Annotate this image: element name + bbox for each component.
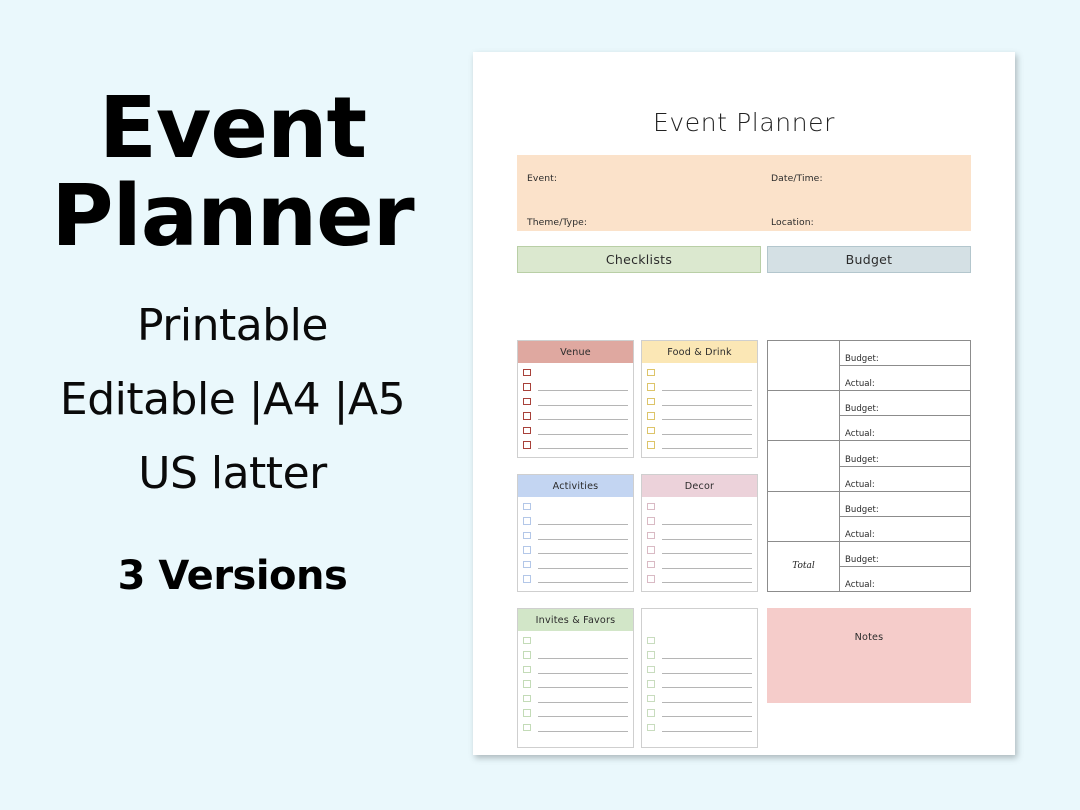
checkbox-icon[interactable] [523, 680, 531, 688]
checkbox-icon[interactable] [647, 724, 655, 732]
checklist-item-row[interactable] [647, 409, 752, 424]
checklist-card-decor: Decor [641, 474, 758, 592]
budget-amount-cell[interactable]: Budget: [840, 542, 970, 567]
checklist-item-row[interactable] [647, 365, 752, 380]
checklist-rows-food-drink [642, 363, 757, 454]
checkbox-icon[interactable] [647, 709, 655, 717]
checklist-item-row[interactable] [523, 691, 628, 706]
actual-amount-cell[interactable]: Actual: [840, 366, 970, 390]
checklist-write-line[interactable] [662, 731, 753, 732]
checklist-write-line[interactable] [538, 702, 629, 703]
checkbox-icon[interactable] [647, 503, 655, 511]
page-title: Event Planner [473, 52, 1015, 137]
checklist-item-row[interactable] [647, 691, 752, 706]
promo-versions-badge: 3 Versions [118, 553, 348, 599]
budget-row[interactable]: Budget:Actual: [768, 441, 970, 491]
notes-label: Notes [767, 608, 971, 643]
checklist-write-line[interactable] [662, 448, 753, 449]
promo-panel: Event Planner Printable Editable |A4 |A5… [0, 0, 465, 810]
checklist-write-line[interactable] [662, 702, 753, 703]
actual-amount-cell[interactable]: Actual: [840, 567, 970, 591]
promo-feature-us-letter: US latter [138, 451, 326, 497]
checklist-write-line[interactable] [538, 582, 629, 583]
checklist-item-row[interactable] [523, 648, 628, 663]
checklist-write-line[interactable] [662, 539, 753, 540]
checklist-item-row[interactable] [647, 394, 752, 409]
checklist-write-line[interactable] [538, 731, 629, 732]
checklist-write-line[interactable] [538, 716, 629, 717]
checklist-item-row[interactable] [647, 438, 752, 453]
checklist-item-row[interactable] [523, 557, 628, 572]
checkbox-icon[interactable] [523, 441, 531, 449]
budget-amount-cell[interactable]: Budget: [840, 441, 970, 466]
checkbox-icon[interactable] [523, 561, 531, 569]
checklist-item-row[interactable] [647, 528, 752, 543]
tab-budget[interactable]: Budget [767, 246, 971, 273]
budget-row-name-field[interactable] [768, 391, 840, 440]
budget-table: Budget:Actual:Budget:Actual:Budget:Actua… [767, 340, 971, 592]
checkbox-icon[interactable] [647, 412, 655, 420]
checklist-item-row[interactable] [647, 706, 752, 721]
checkbox-icon[interactable] [523, 666, 531, 674]
budget-amount-cell[interactable]: Budget: [840, 492, 970, 517]
checklist-write-line[interactable] [662, 716, 753, 717]
checkbox-icon[interactable] [523, 532, 531, 540]
budget-row-name-field[interactable] [768, 341, 840, 390]
checkbox-icon[interactable] [523, 546, 531, 554]
checklist-write-line[interactable] [662, 568, 753, 569]
checklist-item-row[interactable] [523, 438, 628, 453]
budget-row[interactable]: Budget:Actual: [768, 391, 970, 441]
checklist-write-line[interactable] [662, 434, 753, 435]
budget-row[interactable]: Budget:Actual: [768, 341, 970, 391]
checklist-write-line[interactable] [538, 510, 629, 511]
checklist-rows-decor [642, 497, 757, 588]
checklist-item-row[interactable] [647, 633, 752, 648]
promo-feature-printable: Printable [137, 303, 328, 349]
checklist-header-blank [642, 609, 757, 631]
checklist-item-row[interactable] [647, 499, 752, 514]
checklist-item-row[interactable] [647, 720, 752, 735]
checkbox-icon[interactable] [647, 383, 655, 391]
checkbox-icon[interactable] [523, 503, 531, 511]
checklist-item-row[interactable] [523, 365, 628, 380]
checkbox-icon[interactable] [647, 532, 655, 540]
budget-row-name-field[interactable] [768, 492, 840, 541]
checkbox-icon[interactable] [523, 709, 531, 717]
checklist-write-line[interactable] [538, 376, 629, 377]
checklist-card-venue: Venue [517, 340, 634, 458]
checkbox-icon[interactable] [647, 546, 655, 554]
checklist-item-row[interactable] [647, 677, 752, 692]
checkbox-icon[interactable] [523, 575, 531, 583]
checklist-item-row[interactable] [523, 528, 628, 543]
checklist-write-line[interactable] [538, 448, 629, 449]
checklist-write-line[interactable] [662, 510, 753, 511]
event-datetime-label: Date/Time: [771, 173, 823, 184]
checklist-write-line[interactable] [662, 405, 753, 406]
checklist-item-row[interactable] [523, 677, 628, 692]
checklist-rows-blank [642, 631, 757, 737]
checklist-write-line[interactable] [538, 687, 629, 688]
checklist-card-food-drink: Food & Drink [641, 340, 758, 458]
checklist-item-row[interactable] [647, 572, 752, 587]
checkbox-icon[interactable] [647, 666, 655, 674]
checklist-item-row[interactable] [523, 662, 628, 677]
checkbox-icon[interactable] [647, 561, 655, 569]
checklist-write-line[interactable] [662, 390, 753, 391]
actual-amount-cell[interactable]: Actual: [840, 517, 970, 541]
checklist-write-line[interactable] [662, 687, 753, 688]
checklist-write-line[interactable] [538, 658, 629, 659]
checklist-write-line[interactable] [662, 524, 753, 525]
event-info-band: Event: Date/Time: Theme/Type: Location: [517, 155, 971, 231]
checklist-write-line[interactable] [538, 434, 629, 435]
budget-row-name-field[interactable] [768, 441, 840, 490]
checklist-header-activities: Activities [518, 475, 633, 497]
checklist-write-line[interactable] [662, 553, 753, 554]
checkbox-icon[interactable] [647, 575, 655, 583]
budget-amount-cell[interactable]: Budget: [840, 341, 970, 366]
checklist-write-line[interactable] [662, 658, 753, 659]
checkbox-icon[interactable] [523, 651, 531, 659]
checklist-item-row[interactable] [523, 499, 628, 514]
checklist-write-line[interactable] [538, 539, 629, 540]
checkbox-icon[interactable] [647, 398, 655, 406]
checklist-item-row[interactable] [647, 423, 752, 438]
event-location-label: Location: [771, 217, 814, 228]
checklist-item-row[interactable] [647, 557, 752, 572]
actual-amount-cell[interactable]: Actual: [840, 416, 970, 440]
checkbox-icon[interactable] [523, 695, 531, 703]
budget-row-total-label[interactable]: Total [768, 542, 840, 591]
checkbox-icon[interactable] [523, 427, 531, 435]
promo-title-line2: Planner [51, 176, 413, 258]
checklist-item-row[interactable] [523, 633, 628, 648]
checkbox-icon[interactable] [647, 637, 655, 645]
checkbox-icon[interactable] [523, 369, 531, 377]
checklist-write-line[interactable] [538, 405, 629, 406]
checklist-item-row[interactable] [647, 662, 752, 677]
promo-feature-formats: Editable |A4 |A5 [60, 377, 405, 423]
checkbox-icon[interactable] [523, 724, 531, 732]
checklist-item-row[interactable] [523, 720, 628, 735]
checklist-card-activities: Activities [517, 474, 634, 592]
checkbox-icon[interactable] [647, 369, 655, 377]
checkbox-icon[interactable] [647, 427, 655, 435]
actual-amount-cell[interactable]: Actual: [840, 467, 970, 491]
checklist-item-row[interactable] [523, 706, 628, 721]
checklist-rows-venue [518, 363, 633, 454]
checklist-write-line[interactable] [538, 390, 629, 391]
checklist-header-decor: Decor [642, 475, 757, 497]
checklist-item-row[interactable] [523, 543, 628, 558]
tab-checklists[interactable]: Checklists [517, 246, 761, 273]
checkbox-icon[interactable] [647, 651, 655, 659]
checkbox-icon[interactable] [647, 441, 655, 449]
checklist-item-row[interactable] [523, 423, 628, 438]
checkbox-icon[interactable] [523, 517, 531, 525]
checklist-card-invites-favors: Invites & Favors [517, 608, 634, 748]
checklist-write-line[interactable] [538, 673, 629, 674]
checklist-rows-invites-favors [518, 631, 633, 737]
checklist-write-line[interactable] [538, 568, 629, 569]
budget-amount-cell[interactable]: Budget: [840, 391, 970, 416]
checklist-header-invites-favors: Invites & Favors [518, 609, 633, 631]
checklist-write-line[interactable] [538, 524, 629, 525]
checklist-item-row[interactable] [523, 409, 628, 424]
promo-title-line1: Event [99, 88, 366, 170]
checklist-rows-activities [518, 497, 633, 588]
checklist-write-line[interactable] [662, 582, 753, 583]
budget-row[interactable]: TotalBudget:Actual: [768, 542, 970, 592]
checkbox-icon[interactable] [523, 637, 531, 645]
planner-page: Event Planner Event: Date/Time: Theme/Ty… [473, 52, 1015, 755]
checklist-header-venue: Venue [518, 341, 633, 363]
checklist-write-line[interactable] [662, 644, 753, 645]
checkbox-icon[interactable] [523, 412, 531, 420]
budget-row[interactable]: Budget:Actual: [768, 492, 970, 542]
checklist-item-row[interactable] [523, 572, 628, 587]
checklist-write-line[interactable] [538, 553, 629, 554]
checklist-write-line[interactable] [662, 419, 753, 420]
event-theme-label: Theme/Type: [527, 217, 587, 228]
checklist-item-row[interactable] [523, 514, 628, 529]
checkbox-icon[interactable] [647, 680, 655, 688]
checkbox-icon[interactable] [647, 695, 655, 703]
event-name-label: Event: [527, 173, 557, 184]
checklist-item-row[interactable] [523, 380, 628, 395]
checklist-item-row[interactable] [647, 514, 752, 529]
checklist-write-line[interactable] [662, 673, 753, 674]
checklist-item-row[interactable] [647, 380, 752, 395]
checkbox-icon[interactable] [523, 398, 531, 406]
checklist-write-line[interactable] [662, 376, 753, 377]
checklist-item-row[interactable] [647, 543, 752, 558]
checkbox-icon[interactable] [523, 383, 531, 391]
checklist-item-row[interactable] [647, 648, 752, 663]
checklist-card-blank [641, 608, 758, 748]
notes-box[interactable]: Notes [767, 608, 971, 703]
checklist-write-line[interactable] [538, 644, 629, 645]
checklist-header-food-drink: Food & Drink [642, 341, 757, 363]
checkbox-icon[interactable] [647, 517, 655, 525]
checklist-write-line[interactable] [538, 419, 629, 420]
checklist-item-row[interactable] [523, 394, 628, 409]
